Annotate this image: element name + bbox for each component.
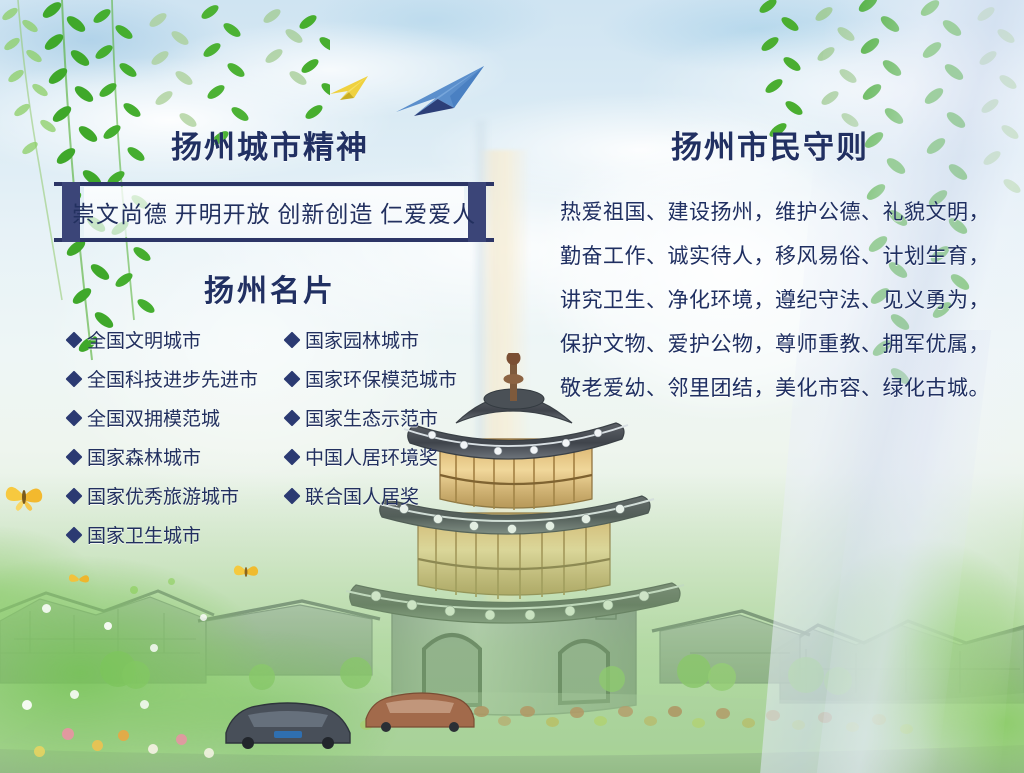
citizen-rules-body: 热爱祖国、建设扬州，维护公德、礼貌文明，勤奋工作、诚实待人，移风易俗、计划生育，… [560,190,970,410]
diamond-bullet-icon [284,448,301,465]
diamond-bullet-icon [66,526,83,543]
cards-column-right: 国家园林城市国家环保模范城市国家生态示范市中国人居环境奖联合国人居奖 [286,320,457,515]
rules-line: 保护文物、爱护公物，尊师重教、拥军优属， [560,322,970,366]
city-cards-title: 扬州名片 [60,275,480,308]
cards-column-left: 全国文明城市全国科技进步先进市全国双拥模范城国家森林城市国家优秀旅游城市国家卫生… [68,320,258,554]
list-item-label: 国家生态示范市 [305,404,438,431]
list-item-label: 中国人居环境奖 [305,443,438,470]
list-item: 全国文明城市 [68,320,258,359]
list-item: 国家森林城市 [68,437,258,476]
diamond-bullet-icon [284,487,301,504]
list-item-label: 国家优秀旅游城市 [87,482,239,509]
list-item: 国家卫生城市 [68,515,258,554]
butterfly-icon [233,560,259,582]
list-item-label: 全国文明城市 [87,326,201,353]
list-item-label: 全国科技进步先进市 [87,365,258,392]
city-spirit-title: 扬州城市精神 [60,131,480,165]
diamond-bullet-icon [284,370,301,387]
butterfly-icon [68,570,90,588]
list-item: 国家优秀旅游城市 [68,476,258,515]
city-spirit-slogan: 崇文尚德 开明开放 创新创造 仁爱爱人 [72,195,476,229]
car-second [360,683,480,735]
list-item: 国家环保模范城市 [286,359,457,398]
list-item-label: 国家园林城市 [305,326,419,353]
rules-line: 勤奋工作、诚实待人，移风易俗、计划生育， [560,234,970,278]
list-item: 联合国人居奖 [286,476,457,515]
diamond-bullet-icon [66,409,83,426]
city-spirit-banner: 崇文尚德 开明开放 创新创造 仁爱爱人 [62,182,486,242]
list-item: 国家生态示范市 [286,398,457,437]
diamond-bullet-icon [66,448,83,465]
list-item-label: 国家卫生城市 [87,521,201,548]
list-item: 中国人居环境奖 [286,437,457,476]
diamond-bullet-icon [284,409,301,426]
list-item-label: 全国双拥模范城 [87,404,220,431]
list-item-label: 联合国人居奖 [305,482,419,509]
poster-canvas: 扬州城市精神 崇文尚德 开明开放 创新创造 仁爱爱人 扬州名片 全国文明城市全国… [0,0,1024,773]
banner-rule-bottom [54,238,494,242]
diamond-bullet-icon [66,487,83,504]
rules-line: 讲究卫生、净化环境，遵纪守法、见义勇为， [560,278,970,322]
paper-plane-icon [392,62,490,120]
list-item: 全国科技进步先进市 [68,359,258,398]
banner-inner-panel: 崇文尚德 开明开放 创新创造 仁爱爱人 [84,187,464,237]
butterfly-icon [4,478,44,512]
banner-rule-top [54,182,494,186]
list-item: 国家园林城市 [286,320,457,359]
list-item-label: 国家森林城市 [87,443,201,470]
list-item-label: 国家环保模范城市 [305,365,457,392]
list-item: 全国双拥模范城 [68,398,258,437]
paper-plane-icon [328,74,372,104]
rules-line: 热爱祖国、建设扬州，维护公德、礼貌文明， [560,190,970,234]
diamond-bullet-icon [284,331,301,348]
diamond-bullet-icon [66,331,83,348]
diamond-bullet-icon [66,370,83,387]
car-front [218,689,358,749]
citizen-rules-title: 扬州市民守则 [560,131,980,165]
rules-line: 敬老爱幼、邻里团结，美化市容、绿化古城。 [560,366,970,410]
